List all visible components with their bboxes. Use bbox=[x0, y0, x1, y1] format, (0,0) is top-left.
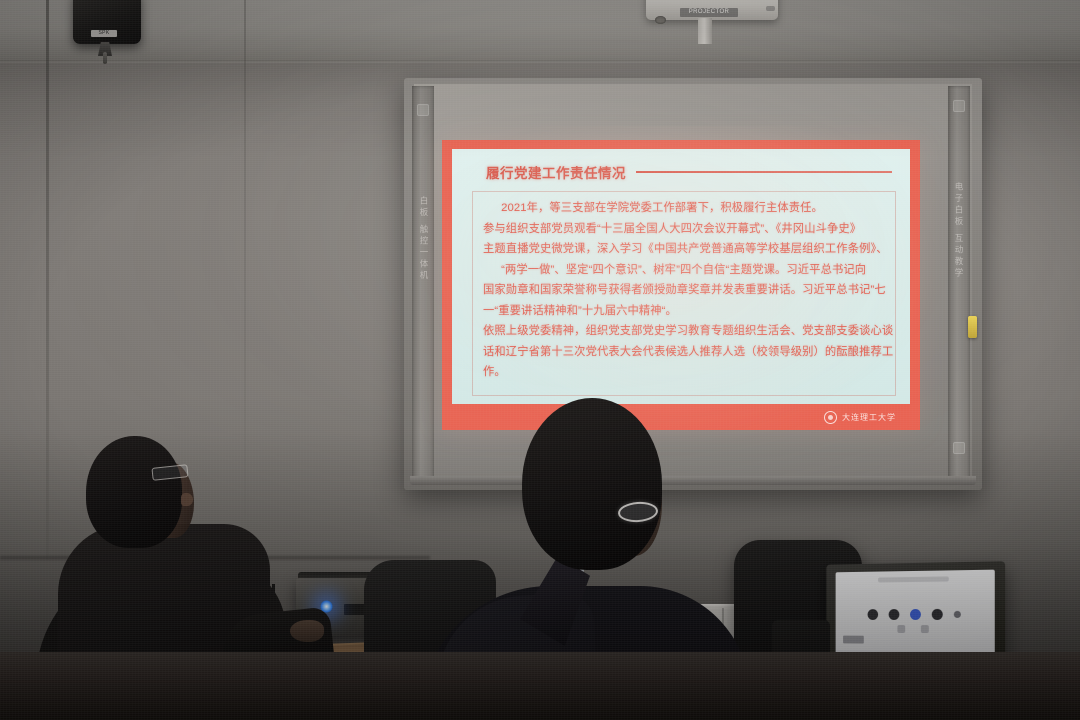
app-icon-5[interactable] bbox=[953, 611, 960, 618]
rail-button-right-1[interactable] bbox=[953, 100, 965, 112]
projector-lens-icon bbox=[655, 16, 666, 24]
projected-slide: 履行党建工作责任情况 2021年，等三支部在学院党委工作部署下，积极履行主体责任… bbox=[442, 140, 920, 430]
laptop-window-titlebar bbox=[878, 576, 948, 582]
laptop-desktop-tile[interactable] bbox=[843, 636, 864, 644]
laptop-screen[interactable] bbox=[836, 570, 995, 666]
slide-line: 2021年，等三支部在学院党委工作部署下，积极履行主体责任。 bbox=[483, 198, 887, 219]
slide-line: 话和辽宁省第十三次党代表大会代表候选人推荐人选（校领导级别）的酝酿推荐工 bbox=[483, 342, 887, 363]
app-icon-3[interactable] bbox=[910, 609, 921, 620]
slide-line: 主题直播党史微党课，深入学习《中国共产党普通高等学校基层组织工作条例》、 bbox=[483, 239, 887, 260]
whiteboard-right-label: 电子白板 互动教学 bbox=[953, 182, 965, 279]
speaker-arm bbox=[103, 52, 107, 64]
projector-label: PROJECTOR bbox=[680, 8, 738, 17]
whiteboard-pen-tray bbox=[410, 476, 976, 485]
sub-icon-1[interactable] bbox=[897, 625, 905, 633]
app-icon-4[interactable] bbox=[931, 609, 942, 620]
slide-body: 2021年，等三支部在学院党委工作部署下，积极履行主体责任。 参与组织支部党员观… bbox=[472, 191, 896, 396]
sub-icon-2[interactable] bbox=[921, 625, 929, 633]
rail-button-right-2[interactable] bbox=[953, 442, 965, 454]
slide-title-row: 履行党建工作责任情况 bbox=[486, 161, 892, 183]
app-icon-1[interactable] bbox=[867, 609, 877, 620]
university-name: 大连理工大学 bbox=[842, 412, 896, 423]
slide-line: “两学一做”、坚定“四个意识”、树牢”四个自信“主题党课。习近平总书记向 bbox=[483, 260, 887, 281]
laptop-sub-row bbox=[836, 625, 995, 634]
slide-line: 国家勋章和国家荣誉称号获得者颁授勋章奖章并发表重要讲话。习近平总书记”七 bbox=[483, 280, 887, 301]
person-center-head bbox=[522, 398, 662, 570]
slide-title-rule bbox=[636, 171, 892, 173]
ceiling-sensor-icon bbox=[766, 6, 775, 11]
laptop-icon-row bbox=[836, 606, 995, 622]
slide-footer: 大连理工大学 bbox=[452, 404, 910, 430]
rail-button-left-1[interactable] bbox=[417, 104, 429, 116]
slide-line: 参与组织支部党员观看“十三届全国人大四次会议开幕式”、《井冈山斗争史》 bbox=[483, 219, 887, 240]
app-icon-2[interactable] bbox=[888, 609, 899, 620]
person-left-nose bbox=[181, 493, 193, 506]
slide-line: 一“重要讲话精神和”十九届六中精神“。 bbox=[483, 301, 887, 322]
slide-content-area: 履行党建工作责任情况 2021年，等三支部在学院党委工作部署下，积极履行主体责任… bbox=[452, 149, 910, 404]
speaker-label: SPK bbox=[91, 30, 117, 37]
whiteboard-left-label: 白板 触控一体机 bbox=[418, 196, 430, 282]
meeting-room-photo: SPK PROJECTOR 白板 触控一体机 电子白板 互动教学 履行党建工作责… bbox=[0, 0, 1080, 720]
person-left-head bbox=[86, 436, 182, 548]
university-emblem-icon bbox=[824, 411, 837, 424]
whiteboard-rail-left: 白板 触控一体机 bbox=[412, 86, 434, 480]
foreground-desk bbox=[0, 652, 1080, 720]
whiteboard-rail-right: 电子白板 互动教学 bbox=[948, 86, 970, 480]
yellow-marker-icon[interactable] bbox=[968, 316, 977, 338]
projector-mount-pole bbox=[698, 18, 712, 44]
slide-title: 履行党建工作责任情况 bbox=[486, 162, 626, 182]
ceiling-speaker: SPK bbox=[73, 0, 141, 44]
person-left-hand bbox=[290, 620, 324, 642]
slide-line: 依照上级党委精神，组织党支部党史学习教育专题组织生活会、党支部支委谈心谈 bbox=[483, 321, 887, 342]
slide-line: 作。 bbox=[483, 362, 887, 383]
